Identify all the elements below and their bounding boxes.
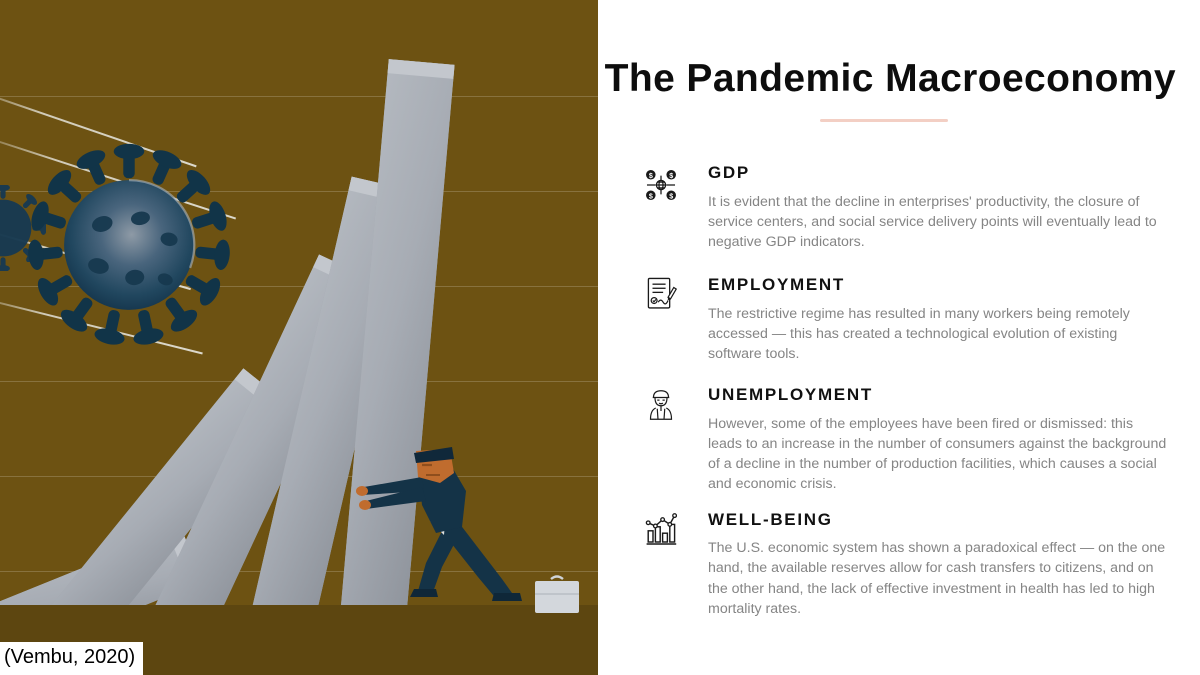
bar-chart-line-icon (640, 513, 682, 557)
title-accent-rule (820, 119, 948, 122)
section-text: The restrictive regime has resulted in m… (708, 304, 1170, 364)
businessman-illustration (352, 447, 562, 617)
svg-text:$: $ (669, 192, 673, 200)
section-heading: EMPLOYMENT (708, 276, 1180, 295)
sections-list: $ $ $ $ GDP It is evident that the decli… (640, 164, 1180, 619)
section-wellbeing: WELL-BEING The U.S. economic system has … (640, 511, 1180, 619)
section-employment: EMPLOYMENT The restrictive regime has re… (640, 276, 1180, 364)
section-text: However, some of the employees have been… (708, 414, 1170, 495)
page-title: The Pandemic Macroeconomy (598, 57, 1176, 101)
worker-person-icon (640, 388, 682, 432)
section-unemployment: UNEMPLOYMENT However, some of the employ… (640, 386, 1180, 494)
section-heading: GDP (708, 164, 1180, 183)
svg-text:$: $ (649, 192, 653, 200)
citation-box: (Vembu, 2020) (0, 642, 143, 675)
section-text: It is evident that the decline in enterp… (708, 192, 1170, 252)
coronavirus-icon (24, 140, 234, 350)
illustration-panel: (Vembu, 2020) (0, 0, 598, 675)
briefcase-icon (533, 573, 581, 615)
slide-root: (Vembu, 2020) The Pandemic Macroeconomy (0, 0, 1200, 675)
svg-text:$: $ (649, 172, 653, 180)
dollar-globe-icon: $ $ $ $ (640, 168, 682, 212)
section-heading: UNEMPLOYMENT (708, 386, 1180, 405)
document-pen-icon (640, 276, 682, 320)
section-gdp: $ $ $ $ GDP It is evident that the decli… (640, 164, 1180, 252)
chart-gridline (0, 96, 598, 97)
svg-text:$: $ (669, 172, 673, 180)
citation-text: (Vembu, 2020) (4, 646, 135, 669)
section-text: The U.S. economic system has shown a par… (708, 538, 1170, 619)
content-panel: The Pandemic Macroeconomy (598, 0, 1200, 675)
section-heading: WELL-BEING (708, 511, 1180, 530)
